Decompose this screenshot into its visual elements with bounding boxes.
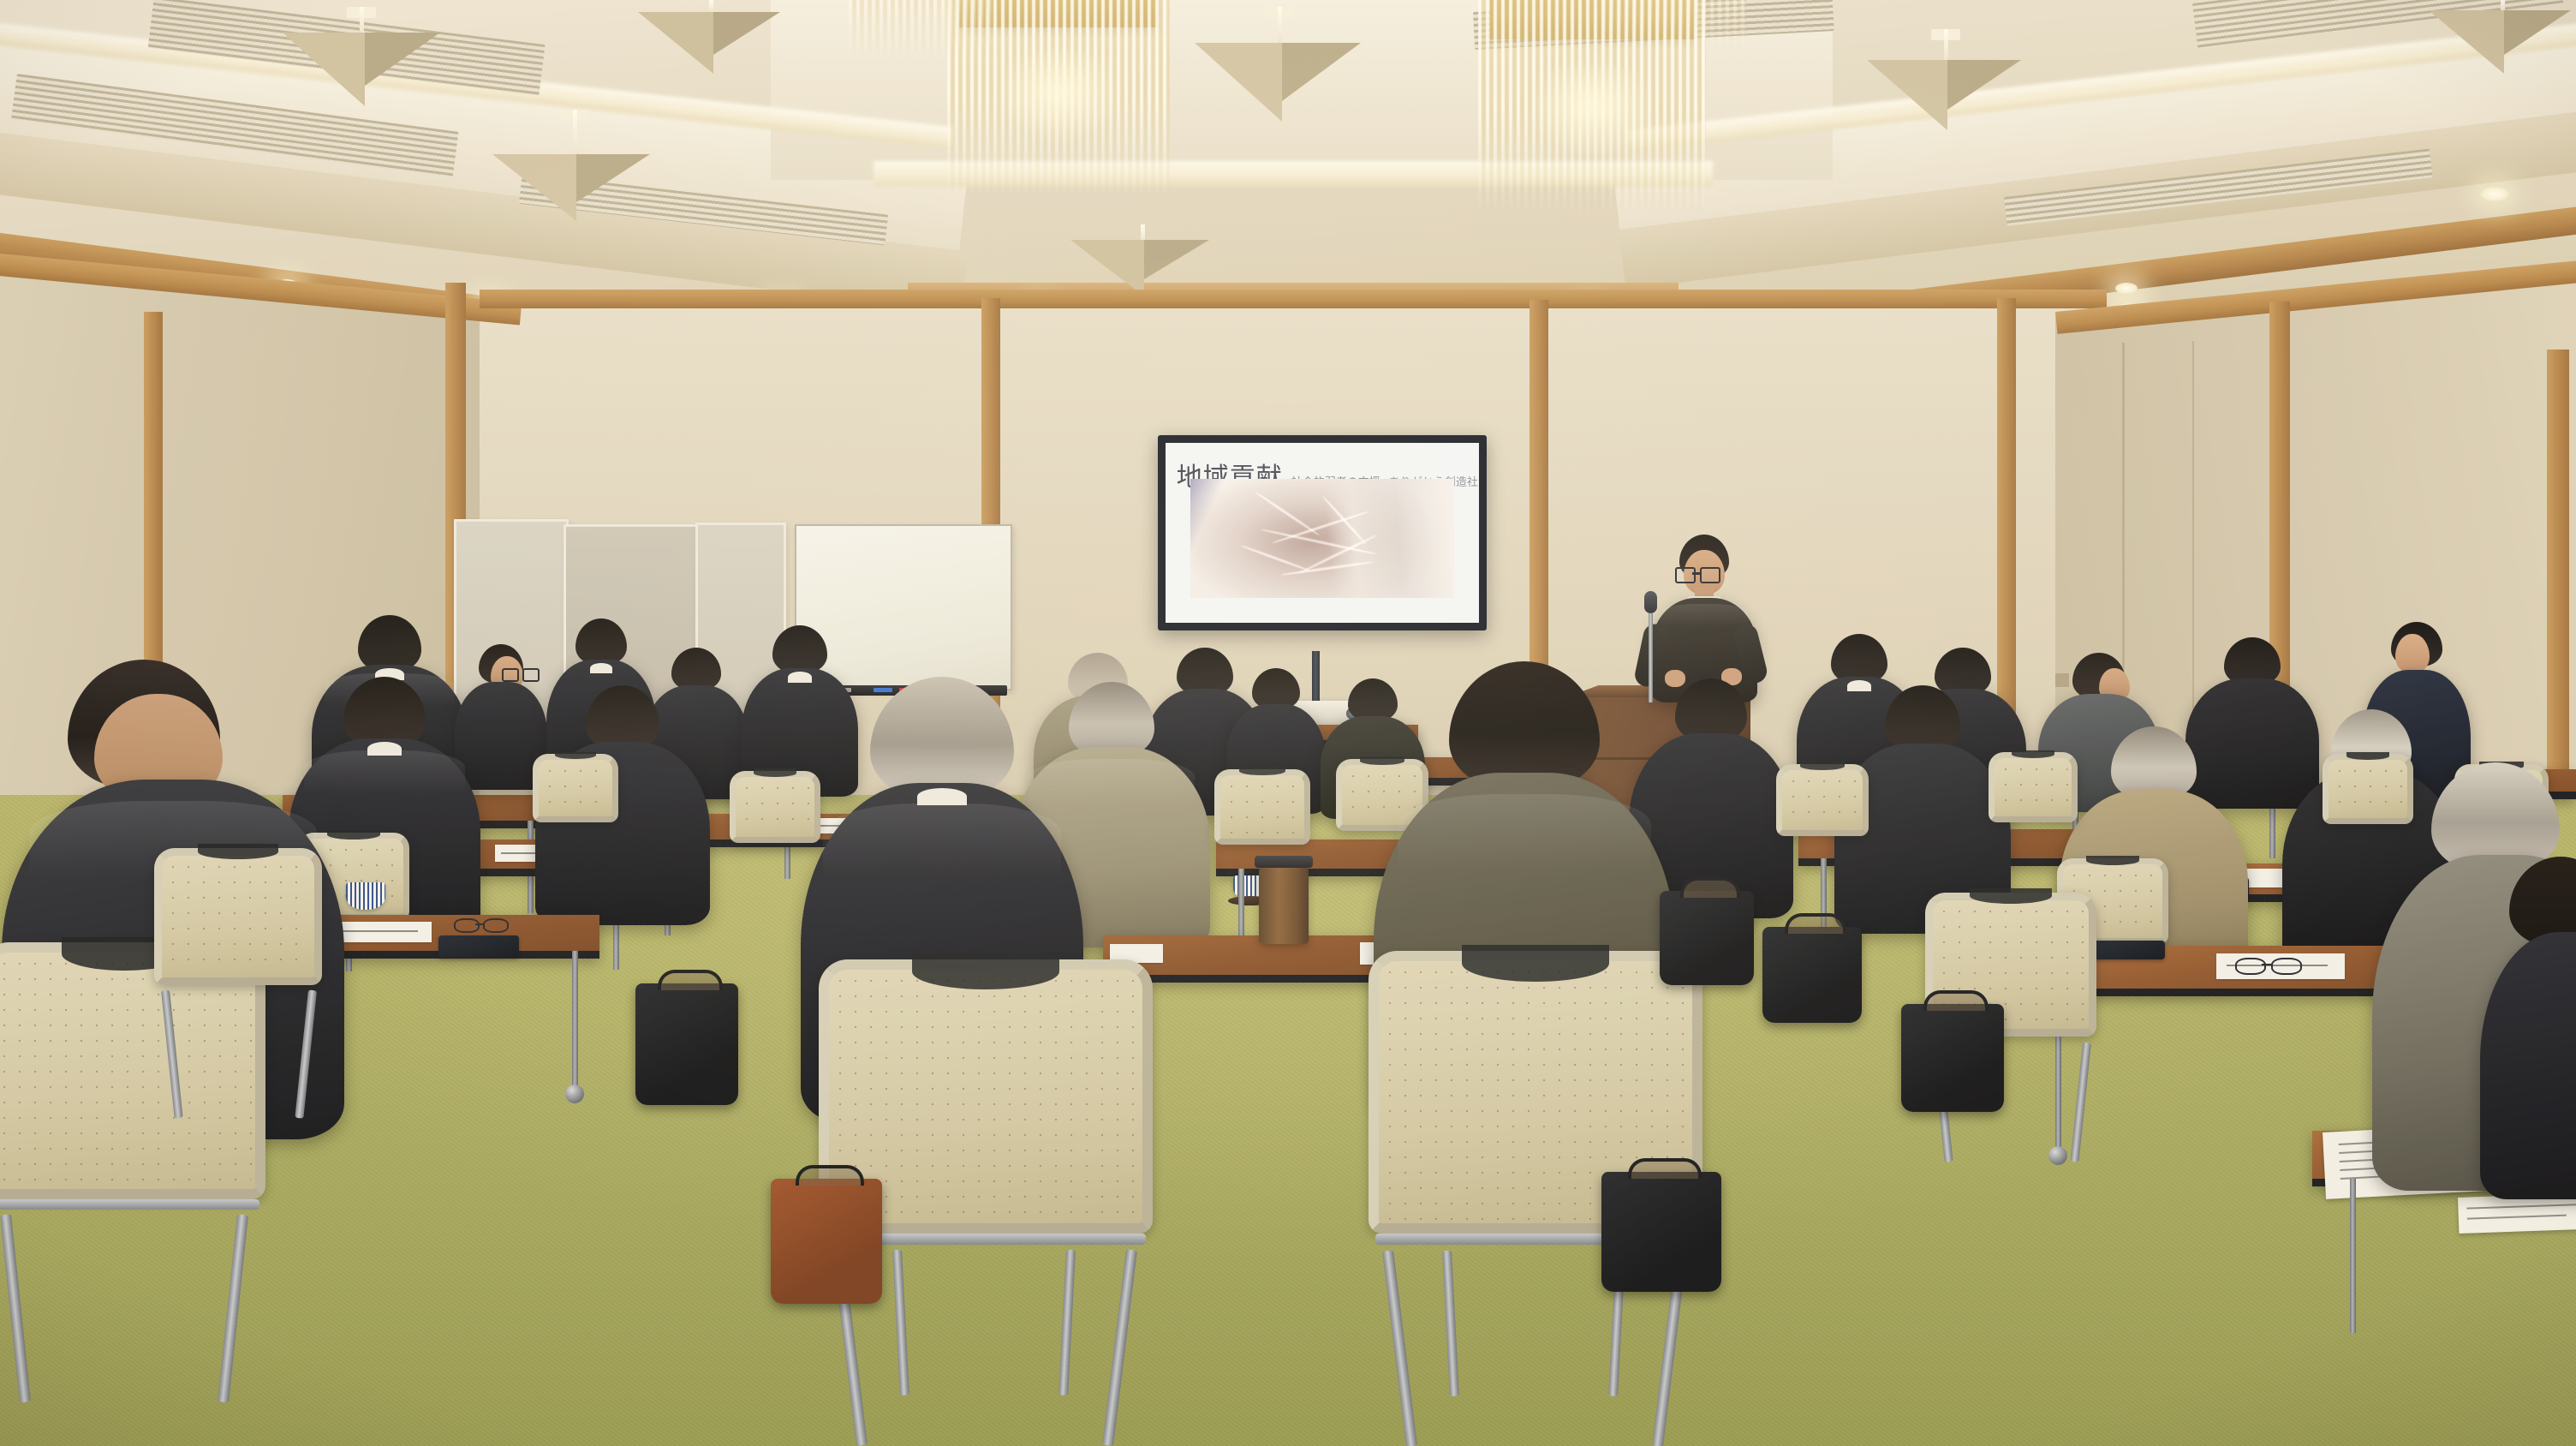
diffuser-facet-right <box>365 33 440 86</box>
jacket-highlight <box>1398 794 1651 871</box>
bag-handle <box>1923 990 1988 1011</box>
glasses-lens-right <box>522 668 540 682</box>
briefcase-floor-right[interactable] <box>1901 1004 2004 1112</box>
notebook-case[interactable] <box>2086 941 2165 959</box>
conference-room-photograph: 地域貢献 社会的弱者の支援 ありがとう創造社 ACC松江 動画 <box>0 0 2576 1446</box>
attendee-hair <box>1252 668 1300 709</box>
chandelier-edge-right <box>1610 0 1738 17</box>
chair-back-notch <box>2086 856 2139 865</box>
chair-back-notch <box>2012 750 2054 758</box>
pyramid-diffuser-2 <box>492 110 657 238</box>
pyramid-diffuser-1 <box>283 7 440 127</box>
wall-trim-back-horizontal <box>480 290 2107 308</box>
chair-back-notch <box>1800 762 1845 769</box>
bag-handle <box>658 970 722 990</box>
chair-back <box>533 754 618 822</box>
attendee-hair <box>772 625 827 673</box>
chair-back-left-1[interactable] <box>533 754 618 822</box>
chair-back-right-1[interactable] <box>1776 764 1869 836</box>
chair-back-notch <box>912 954 1059 990</box>
document-text-line <box>2467 1204 2576 1210</box>
diffuser-facet-right <box>576 154 650 202</box>
wall-post-6 <box>2547 350 2569 829</box>
projection-screen: 地域貢献 社会的弱者の支援 ありがとう創造社 ACC松江 動画 <box>1158 435 1487 630</box>
chair-back-notch <box>1462 945 1609 982</box>
attendee-hair <box>358 615 421 672</box>
chair-back-notch <box>1239 767 1285 775</box>
glasses-bridge <box>1692 572 1700 575</box>
attendee-hair <box>671 648 721 690</box>
diffuser-facet-right <box>2504 10 2571 55</box>
shirt-collar <box>917 788 967 805</box>
attendee-hair <box>1675 678 1747 742</box>
leather-bag-floor[interactable] <box>771 1179 882 1304</box>
pyramid-diffuser-7 <box>2429 0 2576 105</box>
shirt-collar <box>367 742 402 756</box>
table-caster <box>565 1084 584 1103</box>
diffuser-facet-left <box>1195 43 1282 122</box>
jacket-highlight <box>1660 604 1749 627</box>
chair-back-right-2[interactable] <box>1989 752 2078 822</box>
diffuser-rod <box>1141 224 1145 240</box>
chandelier-crystals <box>1602 0 1746 48</box>
chair-back <box>1989 752 2078 822</box>
downlight-5 <box>2480 187 2509 201</box>
photo-strand <box>1240 545 1310 572</box>
attendee-edge-right <box>2492 857 2576 1199</box>
microphone-head <box>1644 591 1657 613</box>
chandelier-glow <box>1527 56 1657 157</box>
chair-back <box>154 848 322 985</box>
chandelier-crystals <box>849 0 993 57</box>
diffuser-facet-right <box>713 12 780 55</box>
glasses-lens-left <box>502 668 519 682</box>
attendee-head <box>2395 634 2430 673</box>
bag-handle <box>796 1165 865 1186</box>
attendee-glasses <box>502 668 540 680</box>
glasses-lens-left <box>1675 567 1696 583</box>
diffuser-facet-left <box>283 33 365 106</box>
chandelier-glow <box>995 44 1122 142</box>
chair-left-row-1[interactable] <box>154 848 322 985</box>
glasses-bridge <box>2262 964 2273 965</box>
attendee-hair <box>870 677 1014 798</box>
table-caster <box>2048 1146 2067 1165</box>
photo-strand <box>1280 560 1374 576</box>
pyramid-diffuser-4 <box>1195 7 1364 137</box>
pyramid-diffuser-3 <box>638 0 784 103</box>
projection-screen-surface: 地域貢献 社会的弱者の支援 ありがとう創造社 ACC松江 動画 <box>1166 443 1479 623</box>
document-text-line <box>2467 1215 2567 1220</box>
downlight-6 <box>2115 283 2138 294</box>
attendee-suit <box>2480 932 2576 1199</box>
diffuser-rod <box>2501 0 2505 10</box>
attendee-hair <box>586 685 659 750</box>
bag-handle <box>1680 877 1740 898</box>
briefcase-floor-back[interactable] <box>1762 927 1862 1023</box>
diffuser-facet-right <box>1947 60 2021 110</box>
diffuser-rod <box>360 7 364 33</box>
chair-back-notch <box>198 844 278 859</box>
glasses-lens-right <box>2271 958 2302 975</box>
photo-strand <box>1272 511 1370 545</box>
chair-back <box>1776 764 1869 836</box>
thermos-flask[interactable] <box>1259 865 1309 944</box>
reading-glasses <box>2235 958 2302 975</box>
thermos-lid <box>1255 856 1312 868</box>
diffuser-rod <box>1278 7 1282 43</box>
bag-handle <box>1785 913 1847 934</box>
diffuser-facet-left <box>1070 240 1144 296</box>
chandelier-edge-left <box>856 0 985 26</box>
diffuser-facet-right <box>1282 43 1361 101</box>
glasses-bridge <box>475 923 484 925</box>
reading-glasses <box>454 918 507 932</box>
attendee-hair <box>1885 685 1960 752</box>
jacket-highlight <box>823 804 1060 878</box>
chair-back-notch <box>2346 752 2390 760</box>
diffuser-rod <box>709 0 713 12</box>
diffuser-facet-right <box>1144 240 1209 279</box>
attendee-hair <box>1449 661 1600 790</box>
chair-back-center-1[interactable] <box>1214 769 1310 845</box>
photo-strand <box>1321 495 1367 545</box>
diffuser-facet-left <box>2429 10 2504 74</box>
attendee-hair <box>575 618 627 665</box>
bag-handle <box>1628 1158 1702 1179</box>
diffuser-rod <box>573 110 577 154</box>
presenter-glasses <box>1675 567 1720 581</box>
table-leg <box>572 951 578 1086</box>
glasses-lens-left <box>2235 958 2266 975</box>
table-leg <box>2350 1179 2356 1333</box>
diffuser-rod <box>1944 29 1948 60</box>
glasses-lens-right <box>483 918 509 933</box>
pyramid-diffuser-6 <box>1867 29 2024 146</box>
glasses-lens-left <box>454 918 480 933</box>
chair-rail <box>0 1199 259 1210</box>
glasses-lens-right <box>1700 567 1720 583</box>
diffuser-facet-left <box>1867 60 1947 130</box>
diffuser-facet-left <box>492 154 576 221</box>
chair-back-notch <box>754 768 797 776</box>
briefcase-floor-center[interactable] <box>1601 1172 1721 1292</box>
chair-back <box>1214 769 1310 845</box>
shirt-collar <box>590 663 612 673</box>
smartphone[interactable] <box>438 935 519 958</box>
slide-photo <box>1190 479 1453 598</box>
diffuser-facet-left <box>638 12 713 74</box>
briefcase-floor-left[interactable] <box>635 983 738 1105</box>
briefcase-floor-podium[interactable] <box>1660 891 1754 985</box>
